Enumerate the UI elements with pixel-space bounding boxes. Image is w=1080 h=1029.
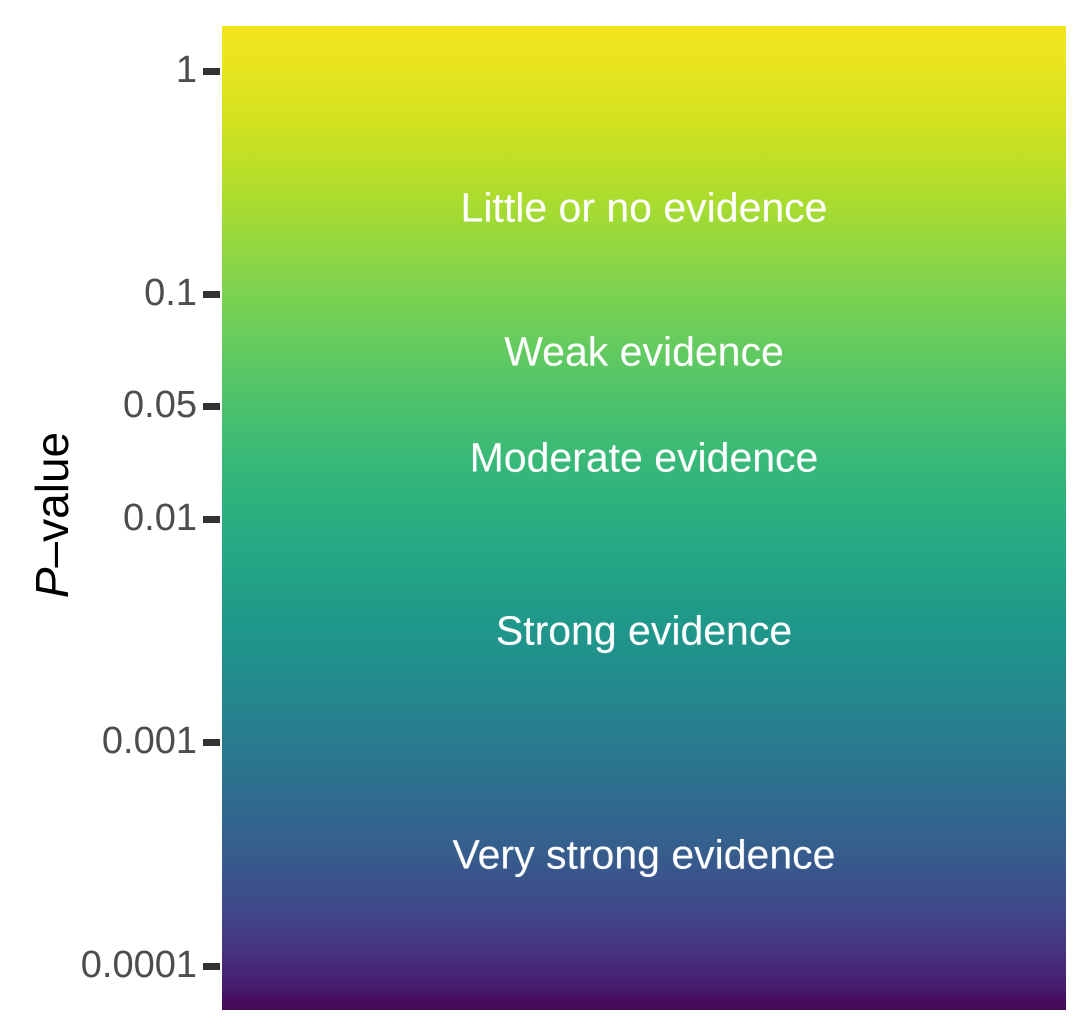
annotation-strong-evidence: Strong evidence [222,611,1066,652]
y-tick-mark-icon [203,516,220,523]
y-tick-label: 0.01 [123,499,203,537]
y-tick-mark-icon [203,739,220,746]
y-tick-mark-icon [203,291,220,298]
y-tick-label: 0.1 [144,274,203,312]
y-tick-label: 0.0001 [81,946,203,984]
y-tick-mark-icon [203,963,220,970]
y-axis: 1 0.1 0.05 0.01 0.001 0.0001 [0,0,222,1029]
y-tick-label: 0.05 [123,386,203,424]
gradient-panel: Little or no evidence Weak evidence Mode… [222,26,1066,1010]
annotation-moderate-evidence: Moderate evidence [222,438,1066,479]
y-tick-label: 0.001 [102,722,203,760]
y-tick-label: 1 [176,51,203,89]
annotation-very-strong-evidence: Very strong evidence [222,835,1066,876]
annotation-weak-evidence: Weak evidence [222,332,1066,373]
figure-canvas: P–value 1 0.1 0.05 0.01 0.001 0.0001 [0,0,1080,1029]
y-tick-mark-icon [203,68,220,75]
y-tick-mark-icon [203,403,220,410]
annotation-little-or-no-evidence: Little or no evidence [222,188,1066,229]
